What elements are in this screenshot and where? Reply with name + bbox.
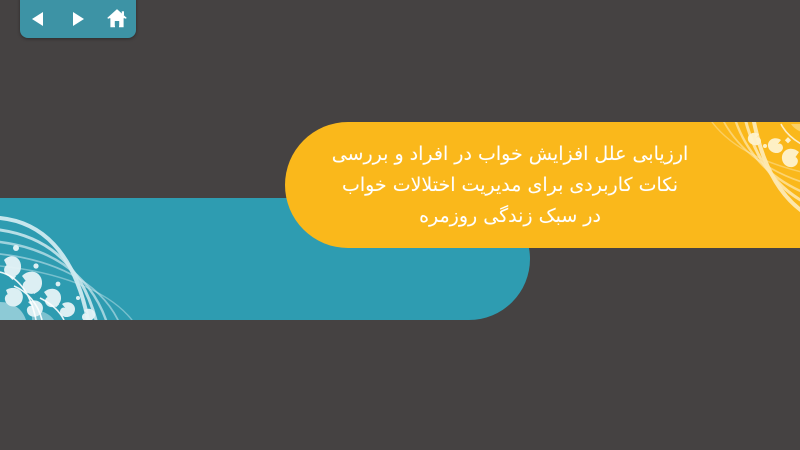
title-line-3: در سبک زندگی روزمره	[300, 201, 720, 232]
navigation-bar	[20, 0, 136, 38]
home-button[interactable]	[104, 6, 130, 32]
slide-title: ارزیابی علل افزایش خواب در افراد و بررسی…	[300, 126, 720, 244]
back-triangle-icon	[29, 9, 49, 29]
title-line-1: ارزیابی علل افزایش خواب در افراد و بررسی	[300, 139, 720, 170]
slide-canvas: ارزیابی علل افزایش خواب در افراد و بررسی…	[0, 0, 800, 450]
arabesque-ornament-icon	[0, 198, 150, 320]
back-button[interactable]	[26, 6, 52, 32]
home-icon	[106, 8, 128, 30]
forward-button[interactable]	[65, 6, 91, 32]
forward-triangle-icon	[68, 9, 88, 29]
title-line-2: نکات کاربردی برای مدیریت اختلالات خواب	[300, 170, 720, 201]
